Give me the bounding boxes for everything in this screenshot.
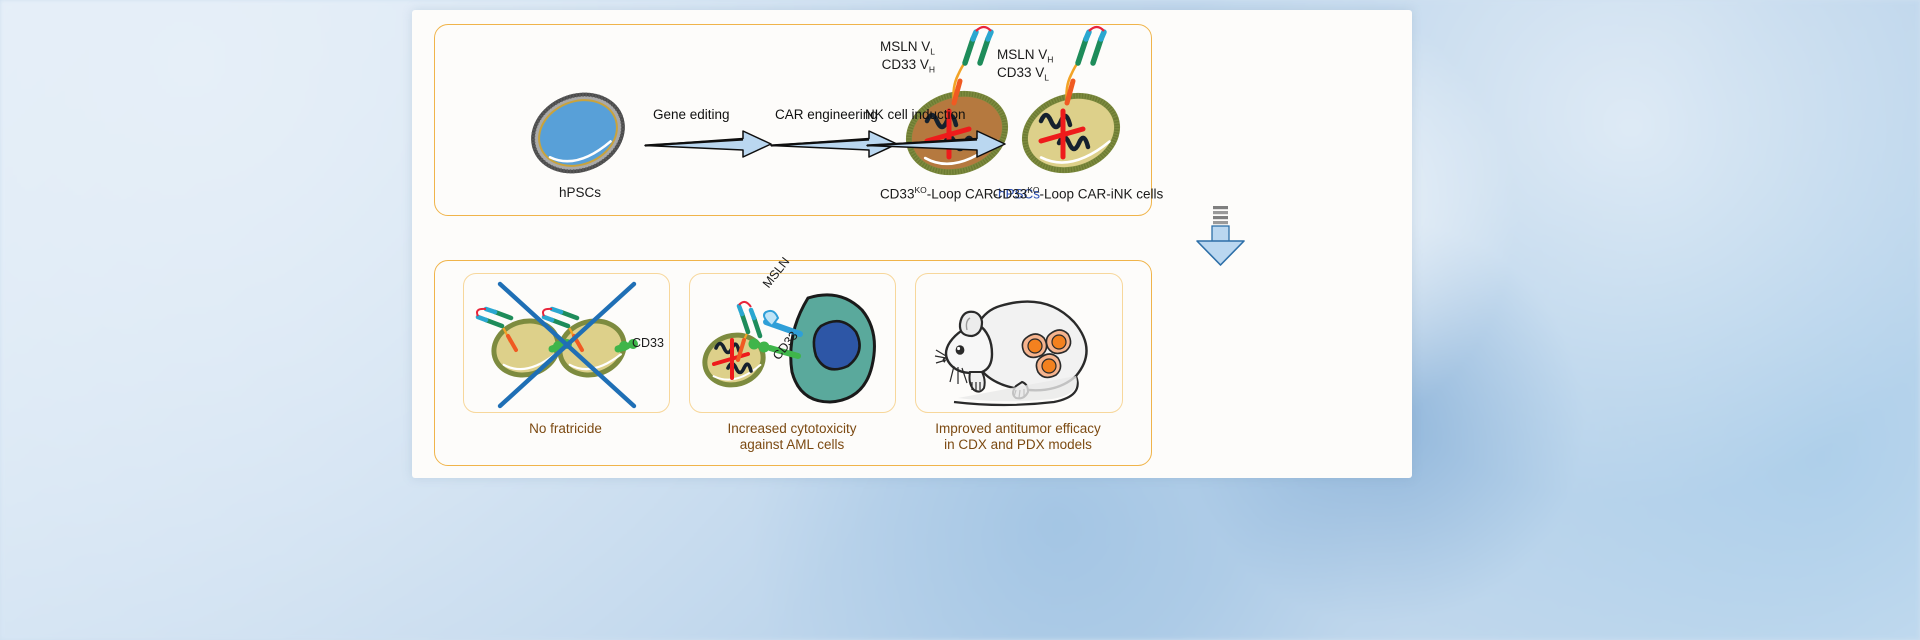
figure-card: hPSCs Gene editing CAR engineering bbox=[412, 10, 1412, 478]
car-label-msln-vh-text: MSLN V bbox=[997, 47, 1047, 62]
right-arrow-icon-1 bbox=[645, 129, 773, 159]
right-arrow-icon-3 bbox=[867, 129, 1007, 159]
subbox-no-fratricide: CD33 bbox=[463, 273, 670, 413]
car-label-msln-vh: MSLN VH bbox=[997, 47, 1053, 65]
car-label-cd33-vh-text: CD33 V bbox=[882, 57, 929, 72]
car-hpsc-label-sup: KO bbox=[914, 185, 926, 195]
caption-no-fratricide: No fratricide bbox=[463, 421, 668, 437]
car-ink-label-mid: -Loop CAR- bbox=[1040, 187, 1111, 202]
caption-increased-cytotoxicity: Increased cytotoxicity against AML cells bbox=[681, 421, 903, 453]
car-ink-label-sup: KO bbox=[1027, 185, 1039, 195]
subbox-increased-cytotoxicity: MSLN CD33 bbox=[689, 273, 896, 413]
mouse-icon bbox=[934, 284, 1106, 406]
hpsc-label: hPSCs bbox=[495, 185, 665, 200]
car-ink-label: CD33KO-Loop CAR-iNK cells bbox=[963, 185, 1193, 202]
hpsc-cell-icon bbox=[523, 83, 633, 183]
car-label-cd33-vl: CD33 VL bbox=[997, 65, 1049, 83]
car-label-msln-vl: MSLN VL bbox=[785, 39, 935, 57]
car-ink-label-suffix: iNK cells bbox=[1111, 187, 1164, 202]
car-label-cd33-vl-sub: L bbox=[1044, 73, 1049, 83]
car-label-cd33-vh-sub: H bbox=[929, 65, 935, 75]
step-label-car-engineering: CAR engineering bbox=[775, 107, 878, 122]
down-arrow-icon bbox=[1191, 206, 1249, 268]
car-receptor-icon-2 bbox=[1055, 35, 1125, 107]
bottom-panel: CD33 No fratricide bbox=[434, 260, 1152, 466]
car-label-cd33-vh: CD33 VH bbox=[785, 57, 935, 75]
car-label-msln-vl-sub: L bbox=[930, 47, 935, 57]
subbox-antitumor-efficacy bbox=[915, 273, 1123, 413]
step-label-nk-induction: NK cell induction bbox=[865, 107, 966, 122]
nk-induction-text: NK cell induction bbox=[865, 107, 966, 122]
car-label-msln-vh-sub: H bbox=[1047, 55, 1053, 65]
caption-antitumor-efficacy: Improved antitumor efficacy in CDX and P… bbox=[905, 421, 1131, 453]
step-label-gene-editing: Gene editing bbox=[653, 107, 730, 122]
cd33-antigen-label: CD33 bbox=[632, 336, 664, 350]
car-label-cd33-vl-text: CD33 V bbox=[997, 65, 1044, 80]
car-hpsc-label-prefix: CD33 bbox=[880, 187, 915, 202]
top-panel: hPSCs Gene editing CAR engineering bbox=[434, 24, 1152, 216]
car-label-msln-vl-text: MSLN V bbox=[880, 39, 930, 54]
car-ink-label-prefix: CD33 bbox=[993, 187, 1028, 202]
